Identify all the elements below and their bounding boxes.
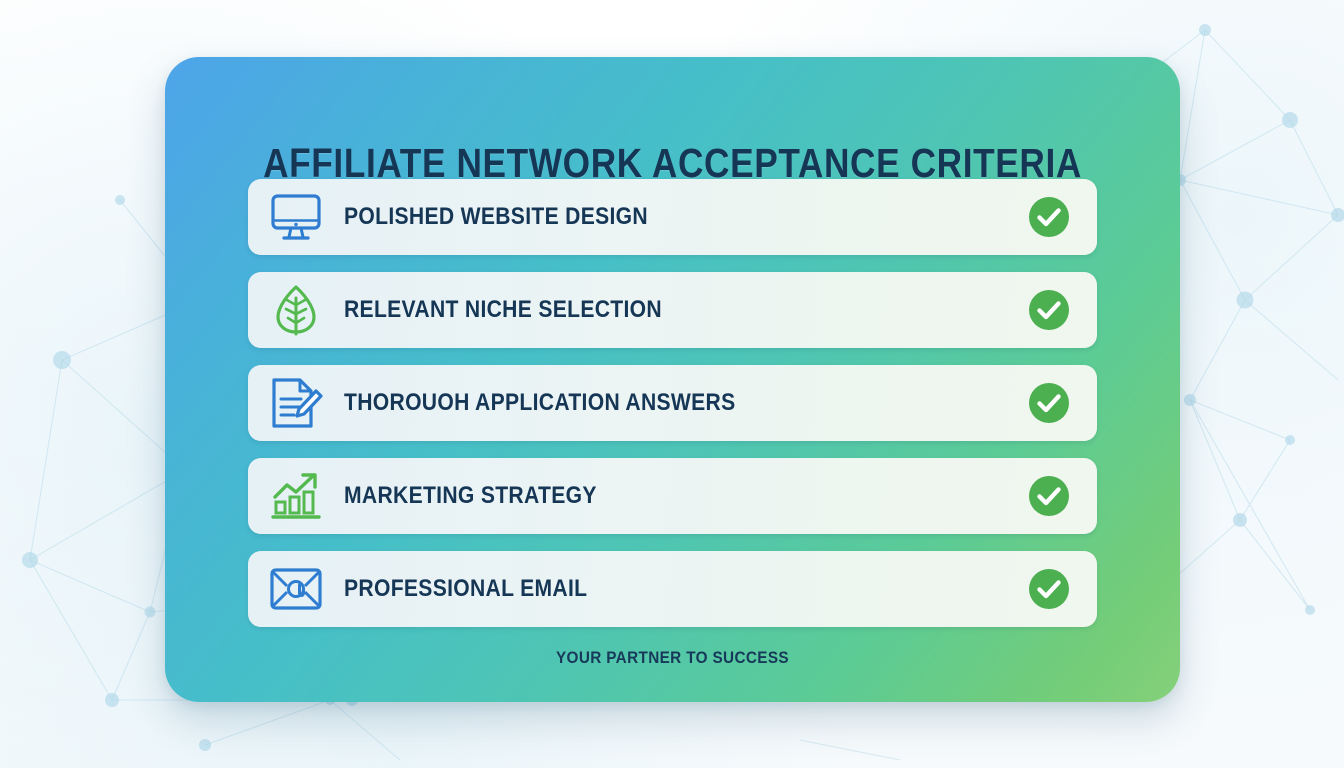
check-circle-icon — [1001, 568, 1097, 610]
list-item[interactable]: MARKETING STRATEGY — [248, 458, 1097, 534]
list-item[interactable]: RELEVANT NICHE SELECTION — [248, 272, 1097, 348]
list-item-label: THOROUOH APPLICATION ANSWERS — [344, 389, 922, 417]
page-title: AFFILIATE NETWORK ACCEPTANCE CRITERIA — [236, 143, 1109, 184]
list-item[interactable]: PROFESSIONAL EMAIL — [248, 551, 1097, 627]
email-at-icon — [248, 566, 344, 612]
check-circle-icon — [1001, 475, 1097, 517]
list-item-label: POLISHED WEBSITE DESIGN — [344, 203, 922, 231]
footer-tagline: YOUR PARTNER TO SUCCESS — [216, 648, 1130, 668]
leaf-icon — [248, 284, 344, 336]
list-item-label: RELEVANT NICHE SELECTION — [344, 296, 922, 324]
check-circle-icon — [1001, 382, 1097, 424]
document-pencil-icon — [248, 377, 344, 429]
list-item-label: MARKETING STRATEGY — [344, 482, 922, 510]
check-circle-icon — [1001, 196, 1097, 238]
check-circle-icon — [1001, 289, 1097, 331]
list-item[interactable]: THOROUOH APPLICATION ANSWERS — [248, 365, 1097, 441]
criteria-list: POLISHED WEBSITE DESIGN R — [248, 179, 1097, 644]
infographic-canvas: AFFILIATE NETWORK ACCEPTANCE CRITERIA PO… — [0, 0, 1344, 768]
criteria-card: AFFILIATE NETWORK ACCEPTANCE CRITERIA PO… — [165, 57, 1180, 702]
list-item[interactable]: POLISHED WEBSITE DESIGN — [248, 179, 1097, 255]
growth-chart-icon — [248, 471, 344, 521]
list-item-label: PROFESSIONAL EMAIL — [344, 575, 922, 603]
monitor-icon — [248, 193, 344, 241]
